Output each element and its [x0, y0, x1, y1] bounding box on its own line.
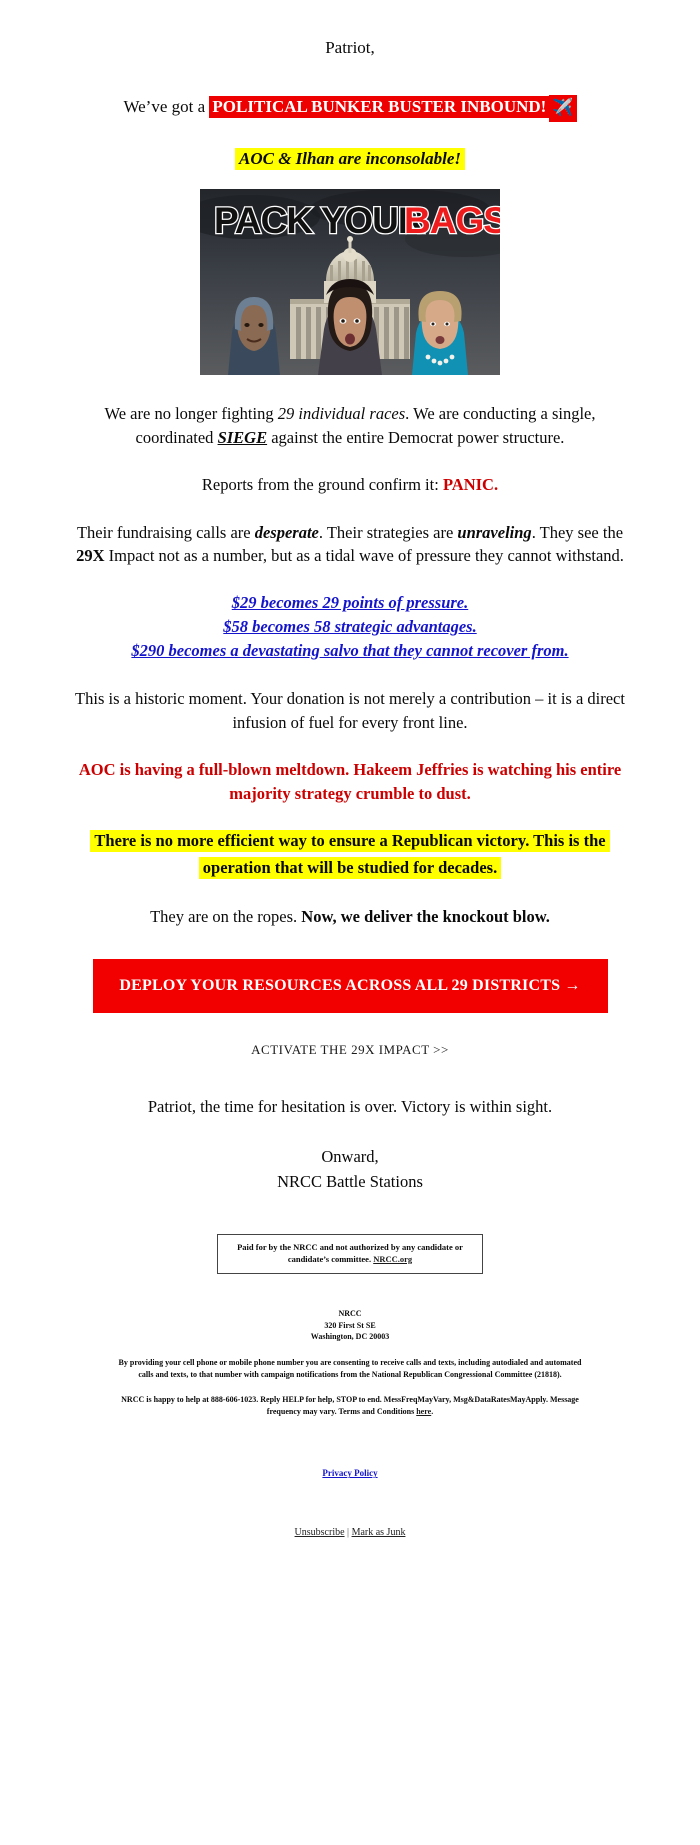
signoff-block: Onward, NRCC Battle Stations [70, 1145, 630, 1195]
panic-paragraph: Reports from the ground confirm it: PANI… [70, 473, 630, 496]
fundraising-part4: Impact not as a number, but as a tidal w… [105, 546, 624, 565]
address-city: Washington, DC 20003 [311, 1332, 389, 1341]
siege-part3: against the entire Democrat power struct… [267, 428, 564, 447]
pack-your-bags-image: PACK YOUR BAGS! [200, 189, 500, 375]
efficiency-highlight-paragraph: There is no more efficient way to ensure… [70, 828, 630, 881]
lede-prefix: We’ve got a [123, 97, 209, 116]
hero-image-container: PACK YOUR BAGS! [70, 189, 630, 380]
unsubscribe-link[interactable]: Unsubscribe [295, 1527, 345, 1538]
subheadline-highlight: AOC & Ilhan are inconsolable! [235, 148, 465, 170]
donation-link-290[interactable]: $290 becomes a devastating salvo that th… [131, 641, 568, 660]
mark-as-junk-link[interactable]: Mark as Junk [352, 1527, 406, 1538]
primary-cta-container: DEPLOY YOUR RESOURCES ACROSS ALL 29 DIST… [70, 959, 630, 1014]
privacy-policy-container: Privacy Policy [70, 1463, 630, 1481]
signoff-line1: Onward, [321, 1147, 378, 1166]
subheadline: AOC & Ilhan are inconsolable! [70, 147, 630, 171]
knockout-bold: Now, we deliver the knockout blow. [301, 907, 550, 926]
impact-multiplier-label: 29X [76, 546, 104, 565]
activate-impact-link[interactable]: ACTIVATE THE 29X IMPACT >> [251, 1042, 449, 1057]
meltdown-alarm-paragraph: AOC is having a full-blown meltdown. Hak… [70, 758, 630, 806]
unraveling-emphasis: unraveling [457, 523, 531, 542]
fundraising-paragraph: Their fundraising calls are desperate. T… [70, 521, 630, 568]
bunker-buster-highlight: POLITICAL BUNKER BUSTER INBOUND! [209, 96, 549, 118]
sms-consent-text: By providing your cell phone or mobile p… [110, 1357, 590, 1380]
help-text: NRCC is happy to help at 888-606-1023. R… [121, 1395, 579, 1416]
fundraising-part1: Their fundraising calls are [77, 523, 255, 542]
paid-for-disclaimer: Paid for by the NRCC and not authorized … [217, 1234, 483, 1274]
organization-address: NRCC 320 First St SE Washington, DC 2000… [70, 1308, 630, 1343]
secondary-cta-container: ACTIVATE THE 29X IMPACT >> [70, 1041, 630, 1059]
siege-part1: We are no longer fighting [104, 404, 277, 423]
disclaimer-text: Paid for by the NRCC and not authorized … [237, 1242, 463, 1263]
panic-word: PANIC. [443, 475, 498, 494]
closing-paragraph: Patriot, the time for hesitation is over… [70, 1095, 630, 1118]
unsubscribe-bar: Unsubscribe | Mark as Junk [70, 1527, 630, 1578]
desperate-emphasis: desperate [255, 523, 319, 542]
efficiency-highlight-text: There is no more efficient way to ensure… [90, 830, 609, 879]
email-body: Patriot, We’ve got a POLITICAL BUNKER BU… [0, 0, 700, 1578]
help-suffix: . [431, 1407, 433, 1416]
knockout-paragraph: They are on the ropes. Now, we deliver t… [70, 905, 630, 928]
nrcc-org-link[interactable]: NRCC.org [373, 1254, 412, 1264]
address-org: NRCC [338, 1309, 361, 1318]
deploy-resources-button[interactable]: DEPLOY YOUR RESOURCES ACROSS ALL 29 DIST… [93, 959, 608, 1014]
email-content-column: Patriot, We’ve got a POLITICAL BUNKER BU… [70, 36, 630, 1578]
donation-link-58[interactable]: $58 becomes 58 strategic advantages. [223, 617, 476, 636]
signoff-line2: NRCC Battle Stations [277, 1172, 423, 1191]
siege-emphasis: SIEGE [218, 428, 268, 447]
help-and-terms-text: NRCC is happy to help at 888-606-1023. R… [110, 1394, 590, 1417]
siege-paragraph: We are no longer fighting 29 individual … [70, 402, 630, 449]
fundraising-part3: . They see the [532, 523, 623, 542]
svg-text:PACK YOUR: PACK YOUR [214, 200, 424, 241]
individual-races-italic: 29 individual races [278, 404, 405, 423]
salutation: Patriot, [70, 36, 630, 60]
panic-part1: Reports from the ground confirm it: [202, 475, 443, 494]
address-street: 320 First St SE [324, 1321, 375, 1330]
terms-and-conditions-link[interactable]: here [416, 1407, 431, 1416]
donation-link-29[interactable]: $29 becomes 29 points of pressure. [232, 593, 469, 612]
ropes-part1: They are on the ropes. [150, 907, 301, 926]
lede-line: We’ve got a POLITICAL BUNKER BUSTER INBO… [70, 94, 630, 121]
privacy-policy-link[interactable]: Privacy Policy [322, 1468, 377, 1478]
disclaimer-container: Paid for by the NRCC and not authorized … [70, 1234, 630, 1274]
historic-moment-paragraph: This is a historic moment. Your donation… [70, 687, 630, 734]
airplane-icon: ✈️ [549, 95, 576, 122]
svg-text:BAGS!: BAGS! [404, 200, 500, 241]
unsubscribe-separator: | [347, 1527, 349, 1538]
fundraising-part2: . Their strategies are [319, 523, 458, 542]
donation-links-block: $29 becomes 29 points of pressure. $58 b… [70, 591, 630, 663]
